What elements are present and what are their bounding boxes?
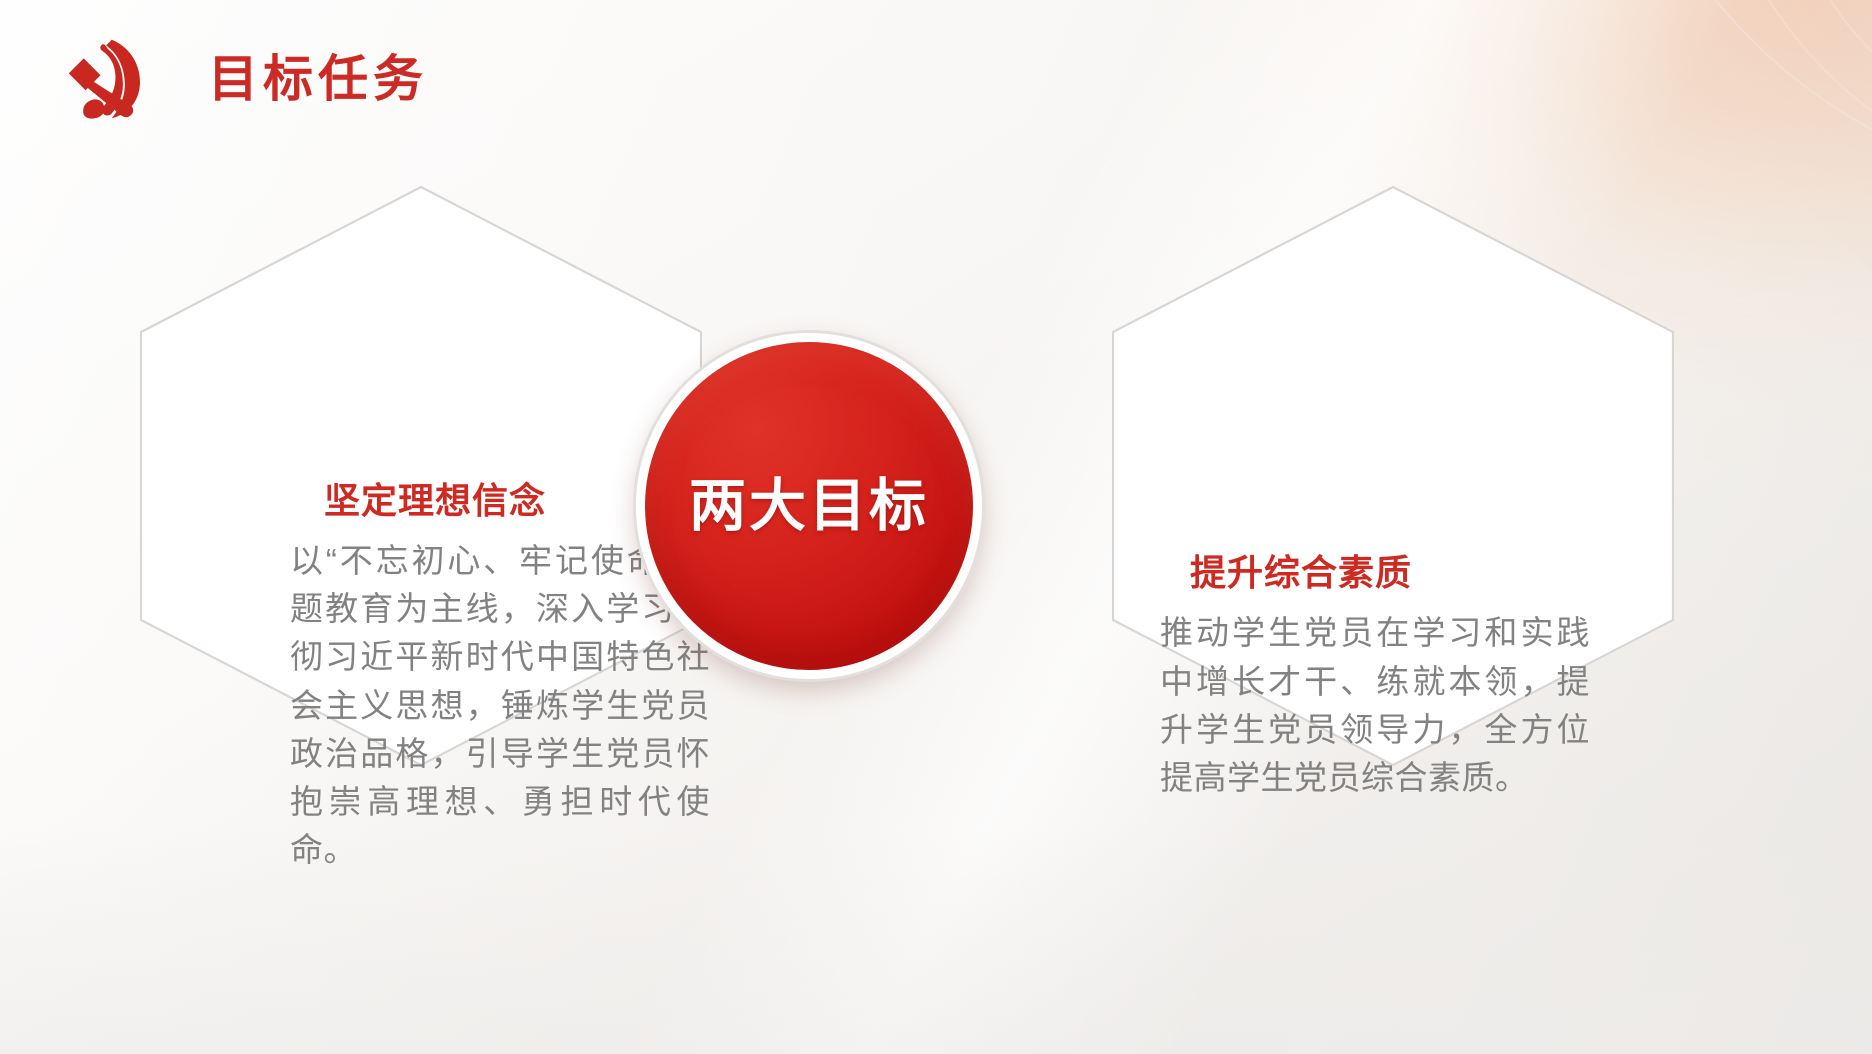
slide-canvas: 目标任务 坚定理想信念 以“不忘初心、牢记使命”主题教育为主线，深入学习贯彻习近… <box>0 0 1872 1054</box>
center-circle-badge[interactable]: 两大目标 <box>636 333 982 679</box>
center-circle-label: 两大目标 <box>689 478 929 535</box>
card-right-body: 推动学生党员在学习和实践中增长才干、练就本领，提升学生党员领导力，全方位提高学生… <box>1160 609 1590 802</box>
hammer-and-sickle-party-emblem-icon <box>60 36 156 122</box>
card-right-title: 提升综合素质 <box>1160 552 1630 593</box>
page-title: 目标任务 <box>208 54 428 104</box>
card-right-content: 提升综合素质 推动学生党员在学习和实践中增长才干、练就本领，提升学生党员领导力，… <box>1160 300 1630 1054</box>
card-left-body: 以“不忘初心、牢记使命”主题教育为主线，深入学习贯彻习近平新时代中国特色社会主义… <box>290 537 710 874</box>
slide-header: 目标任务 <box>60 36 428 122</box>
